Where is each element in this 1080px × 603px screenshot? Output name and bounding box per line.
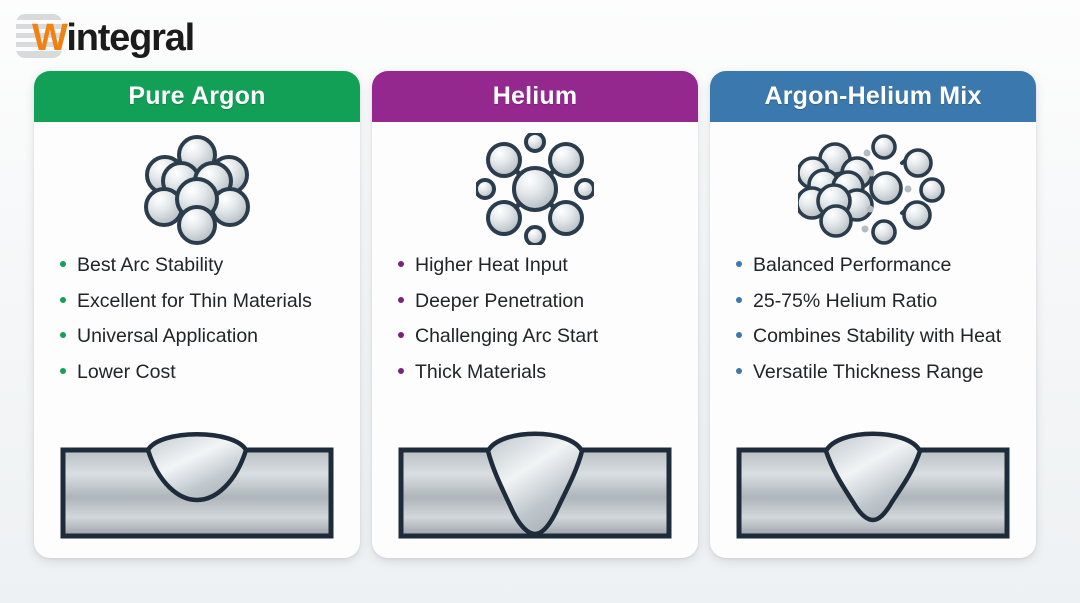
list-item-label: Higher Heat Input [415,256,568,276]
list-item: Best Arc Stability [60,256,360,276]
list-item-label: Deeper Penetration [415,292,584,312]
bullet-dot-icon [60,261,66,267]
list-item: Challenging Arc Start [398,327,698,347]
shallow-wide-weld-profile [34,430,360,544]
bullet-dot-icon [398,297,404,303]
list-item: Universal Application [60,327,360,347]
medium-depth-weld-profile [710,430,1036,544]
card-helium[interactable]: Helium [372,71,698,558]
bullet-dot-icon [398,261,404,267]
list-item-label: Balanced Performance [753,256,951,276]
card-header-argon-helium-mix: Argon-Helium Mix [710,71,1036,122]
card-title: Pure Argon [128,82,265,111]
bullet-dot-icon [398,368,404,374]
radiating-sphere-network-icon [372,122,698,250]
list-item-label: Best Arc Stability [77,256,223,276]
list-item-label: Lower Cost [77,363,176,383]
bullet-list-argon-helium-mix: Balanced Performance 25-75% Helium Ratio… [710,250,1036,398]
list-item-label: Challenging Arc Start [415,327,598,347]
card-title: Helium [493,82,578,111]
bullet-dot-icon [736,297,742,303]
bullet-list-helium: Higher Heat Input Deeper Penetration Cha… [372,250,698,398]
bullet-list-pure-argon: Best Arc Stability Excellent for Thin Ma… [34,250,360,398]
card-argon-helium-mix[interactable]: Argon-Helium Mix [710,71,1036,558]
list-item: Higher Heat Input [398,256,698,276]
mixed-cluster-dispersed-spheres-icon [710,122,1036,250]
gas-comparison-cards: Pure Argon [34,71,1046,558]
card-header-pure-argon: Pure Argon [34,71,360,122]
card-header-helium: Helium [372,71,698,122]
list-item: Thick Materials [398,363,698,383]
list-item: Combines Stability with Heat [736,327,1036,347]
list-item-label: Excellent for Thin Materials [77,292,312,312]
list-item: Lower Cost [60,363,360,383]
list-item: Deeper Penetration [398,292,698,312]
bullet-dot-icon [736,332,742,338]
list-item: 25-75% Helium Ratio [736,292,1036,312]
list-item: Balanced Performance [736,256,1036,276]
list-item: Excellent for Thin Materials [60,292,360,312]
card-pure-argon[interactable]: Pure Argon [34,71,360,558]
bullet-dot-icon [398,332,404,338]
brand-logo: Wintegral [16,13,62,59]
list-item-label: Versatile Thickness Range [753,363,984,383]
list-item-label: Thick Materials [415,363,546,383]
list-item-label: 25-75% Helium Ratio [753,292,937,312]
bullet-dot-icon [736,261,742,267]
brand-name-initial: W [32,17,66,59]
brand-name-rest: integral [66,17,194,59]
brand-name: Wintegral [32,16,194,60]
tight-sphere-cluster-icon [34,122,360,250]
list-item: Versatile Thickness Range [736,363,1036,383]
bullet-dot-icon [60,368,66,374]
deep-narrow-weld-profile [372,430,698,544]
bullet-dot-icon [736,368,742,374]
bullet-dot-icon [60,297,66,303]
card-title: Argon-Helium Mix [764,82,981,111]
bullet-dot-icon [60,332,66,338]
list-item-label: Universal Application [77,327,258,347]
list-item-label: Combines Stability with Heat [753,327,1001,347]
